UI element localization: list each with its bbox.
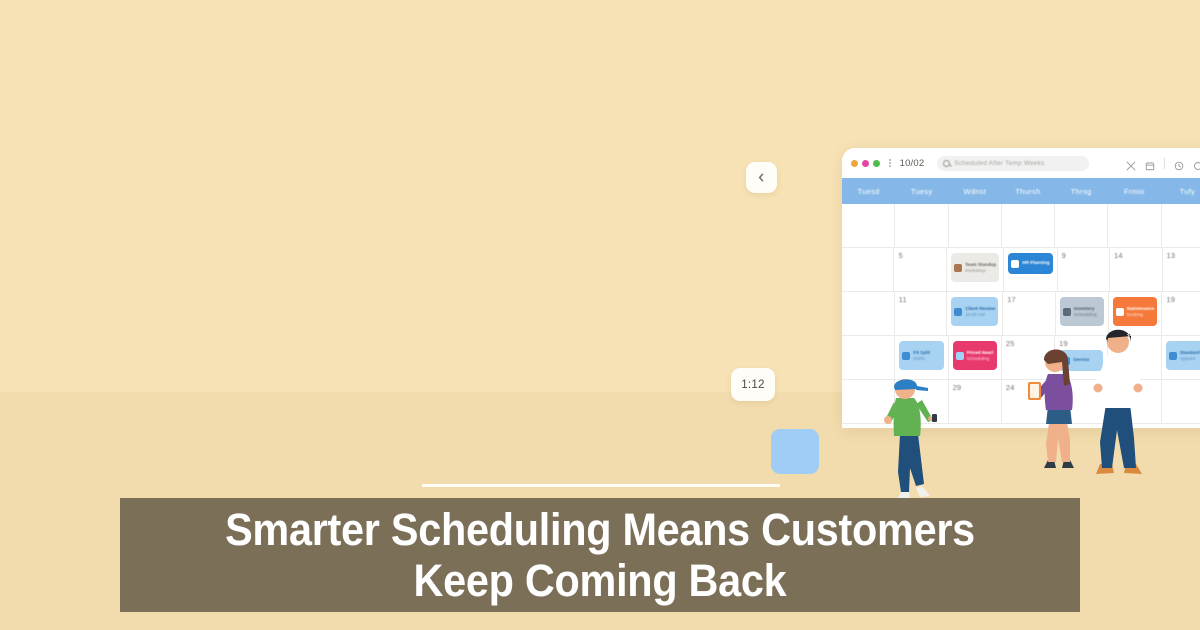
- window-minimize-dot[interactable]: [862, 160, 869, 167]
- event-title: Client Review: [965, 306, 995, 311]
- event-subtitle: 10:00 AM: [965, 312, 995, 317]
- blue-tile[interactable]: [771, 429, 819, 474]
- calendar-day-number: 9: [1062, 251, 1105, 260]
- time-chip[interactable]: 1:12: [731, 368, 775, 401]
- event-subtitle: Booking: [1127, 312, 1155, 317]
- event-title: Fit Split: [913, 350, 930, 355]
- time-chip-label: 1:12: [741, 379, 765, 391]
- event-subtitle: Shifts: [913, 356, 930, 361]
- day-header: Tuesy: [895, 178, 948, 204]
- person-standing: [1086, 318, 1152, 478]
- calendar-day-cell[interactable]: 13: [1163, 248, 1200, 291]
- calendar-date-label: 10/02: [900, 158, 925, 169]
- event-badge-icon: [1169, 352, 1177, 360]
- calendar-day-cell[interactable]: [1162, 204, 1200, 247]
- calendar-day-number: 14: [1114, 251, 1157, 260]
- event-text: Team StandupWorkshop: [965, 262, 996, 274]
- day-header: Frmio: [1108, 178, 1161, 204]
- calendar-action-icons: [1126, 158, 1200, 169]
- calendar-day-cell[interactable]: [842, 204, 895, 247]
- clock-icon[interactable]: [1174, 158, 1184, 168]
- day-header: Thursh: [1001, 178, 1054, 204]
- calendar-day-cell[interactable]: HR Planning: [1004, 248, 1057, 291]
- event-text: HR Planning: [1022, 260, 1049, 267]
- event-subtitle: Scheduling: [967, 356, 994, 361]
- search-placeholder: Scheduled After Temp Weeks: [954, 160, 1044, 167]
- day-header: Tuesd: [842, 178, 895, 204]
- calendar-event-chip[interactable]: StandardAppoint: [1166, 341, 1200, 370]
- event-title: HR Planning: [1022, 260, 1049, 265]
- calendar-day-cell[interactable]: [1002, 204, 1055, 247]
- person-with-tablet: [1028, 330, 1088, 470]
- calendar-day-number: 5: [898, 251, 941, 260]
- calendar-day-number: 17: [1007, 295, 1051, 304]
- window-maximize-dot[interactable]: [873, 160, 880, 167]
- search-icon: [943, 160, 950, 167]
- calendar-day-cell[interactable]: [842, 292, 895, 335]
- calendar-day-number: 19: [1166, 295, 1200, 304]
- calendar-day-cell[interactable]: 5: [894, 248, 946, 291]
- calendar-day-cell[interactable]: 14: [1110, 248, 1162, 291]
- day-header: Wdnst: [948, 178, 1001, 204]
- calendar-event-chip[interactable]: Priced NearlScheduling: [953, 341, 997, 370]
- calendar-day-cell[interactable]: 9: [1058, 248, 1110, 291]
- page-title: Smarter Scheduling Means Customers Keep …: [175, 504, 1025, 606]
- event-title: Maintenance: [1127, 306, 1155, 311]
- event-subtitle: Appoint: [1180, 356, 1200, 361]
- day-header: Tufy: [1161, 178, 1200, 204]
- more-vertical-icon[interactable]: [889, 159, 891, 167]
- event-badge-icon: [956, 352, 964, 360]
- calendar-day-cell[interactable]: [1108, 204, 1161, 247]
- event-text: Client Review10:00 AM: [965, 306, 995, 318]
- calendar-event-chip[interactable]: HR Planning: [1008, 253, 1052, 274]
- calendar-day-cell[interactable]: [949, 204, 1002, 247]
- calendar-day-cell[interactable]: Client Review10:00 AM: [947, 292, 1003, 335]
- event-subtitle: Workshop: [965, 268, 996, 273]
- event-title: Team Standup: [965, 262, 996, 267]
- circle-icon[interactable]: [1193, 158, 1200, 168]
- calendar-icon[interactable]: [1145, 158, 1155, 168]
- event-badge-icon: [1116, 308, 1124, 316]
- calendar-week-row: 5Team StandupWorkshopHR Planning91413: [842, 248, 1200, 292]
- prev-month-button[interactable]: [746, 162, 777, 193]
- event-title: Inventory: [1074, 306, 1097, 311]
- calendar-day-headers: Tuesd Tuesy Wdnst Thursh Thrsg Frmio Tuf…: [842, 178, 1200, 204]
- event-subtitle: Scheduling: [1074, 312, 1097, 317]
- poster-stage: 10/02 Scheduled After Temp Weeks: [0, 0, 1200, 630]
- headline-band: Smarter Scheduling Means Customers Keep …: [120, 498, 1080, 612]
- calendar-day-cell[interactable]: [1162, 380, 1200, 423]
- event-text: StandardAppoint: [1180, 350, 1200, 362]
- event-text: MaintenanceBooking: [1127, 306, 1155, 318]
- divider: [1164, 158, 1165, 169]
- calendar-day-cell[interactable]: 17: [1003, 292, 1056, 335]
- calendar-day-cell[interactable]: [842, 248, 894, 291]
- calendar-toolbar: 10/02 Scheduled After Temp Weeks: [842, 148, 1200, 178]
- event-text: InventoryScheduling: [1074, 306, 1097, 318]
- calendar-day-cell[interactable]: 11: [895, 292, 948, 335]
- search-input[interactable]: Scheduled After Temp Weeks: [937, 156, 1089, 171]
- calendar-day-cell[interactable]: Priced NearlScheduling: [949, 336, 1002, 379]
- calendar-day-cell[interactable]: Team StandupWorkshop: [947, 248, 1004, 291]
- calendar-day-number: 13: [1167, 251, 1200, 260]
- window-close-dot[interactable]: [851, 160, 858, 167]
- calendar-day-cell[interactable]: [1055, 204, 1108, 247]
- calendar-day-number: 11: [899, 295, 943, 304]
- calendar-week-row: [842, 204, 1200, 248]
- calendar-event-chip[interactable]: Team StandupWorkshop: [951, 253, 999, 282]
- event-badge-icon: [902, 352, 910, 360]
- window-traffic-lights[interactable]: [851, 160, 880, 167]
- calendar-day-number: 29: [953, 383, 997, 392]
- shuffle-icon[interactable]: [1126, 158, 1136, 168]
- event-badge-icon: [954, 308, 962, 316]
- event-badge-icon: [1011, 260, 1019, 268]
- person-with-phone: [876, 372, 938, 500]
- calendar-day-cell[interactable]: [895, 204, 948, 247]
- calendar-day-cell[interactable]: 29: [949, 380, 1002, 423]
- calendar-event-chip[interactable]: Client Review10:00 AM: [951, 297, 998, 326]
- event-badge-icon: [1063, 308, 1071, 316]
- calendar-event-chip[interactable]: Fit SplitShifts: [899, 341, 943, 370]
- calendar-day-cell[interactable]: 19: [1162, 292, 1200, 335]
- day-header: Thrsg: [1055, 178, 1108, 204]
- headline-rule: [422, 484, 780, 487]
- event-title: Standard: [1180, 350, 1200, 355]
- event-title: Priced Nearl: [967, 350, 994, 355]
- calendar-day-cell[interactable]: StandardAppoint: [1162, 336, 1200, 379]
- event-text: Priced NearlScheduling: [967, 350, 994, 362]
- chevron-left-icon: [756, 172, 767, 183]
- event-badge-icon: [954, 264, 962, 272]
- event-text: Fit SplitShifts: [913, 350, 930, 362]
